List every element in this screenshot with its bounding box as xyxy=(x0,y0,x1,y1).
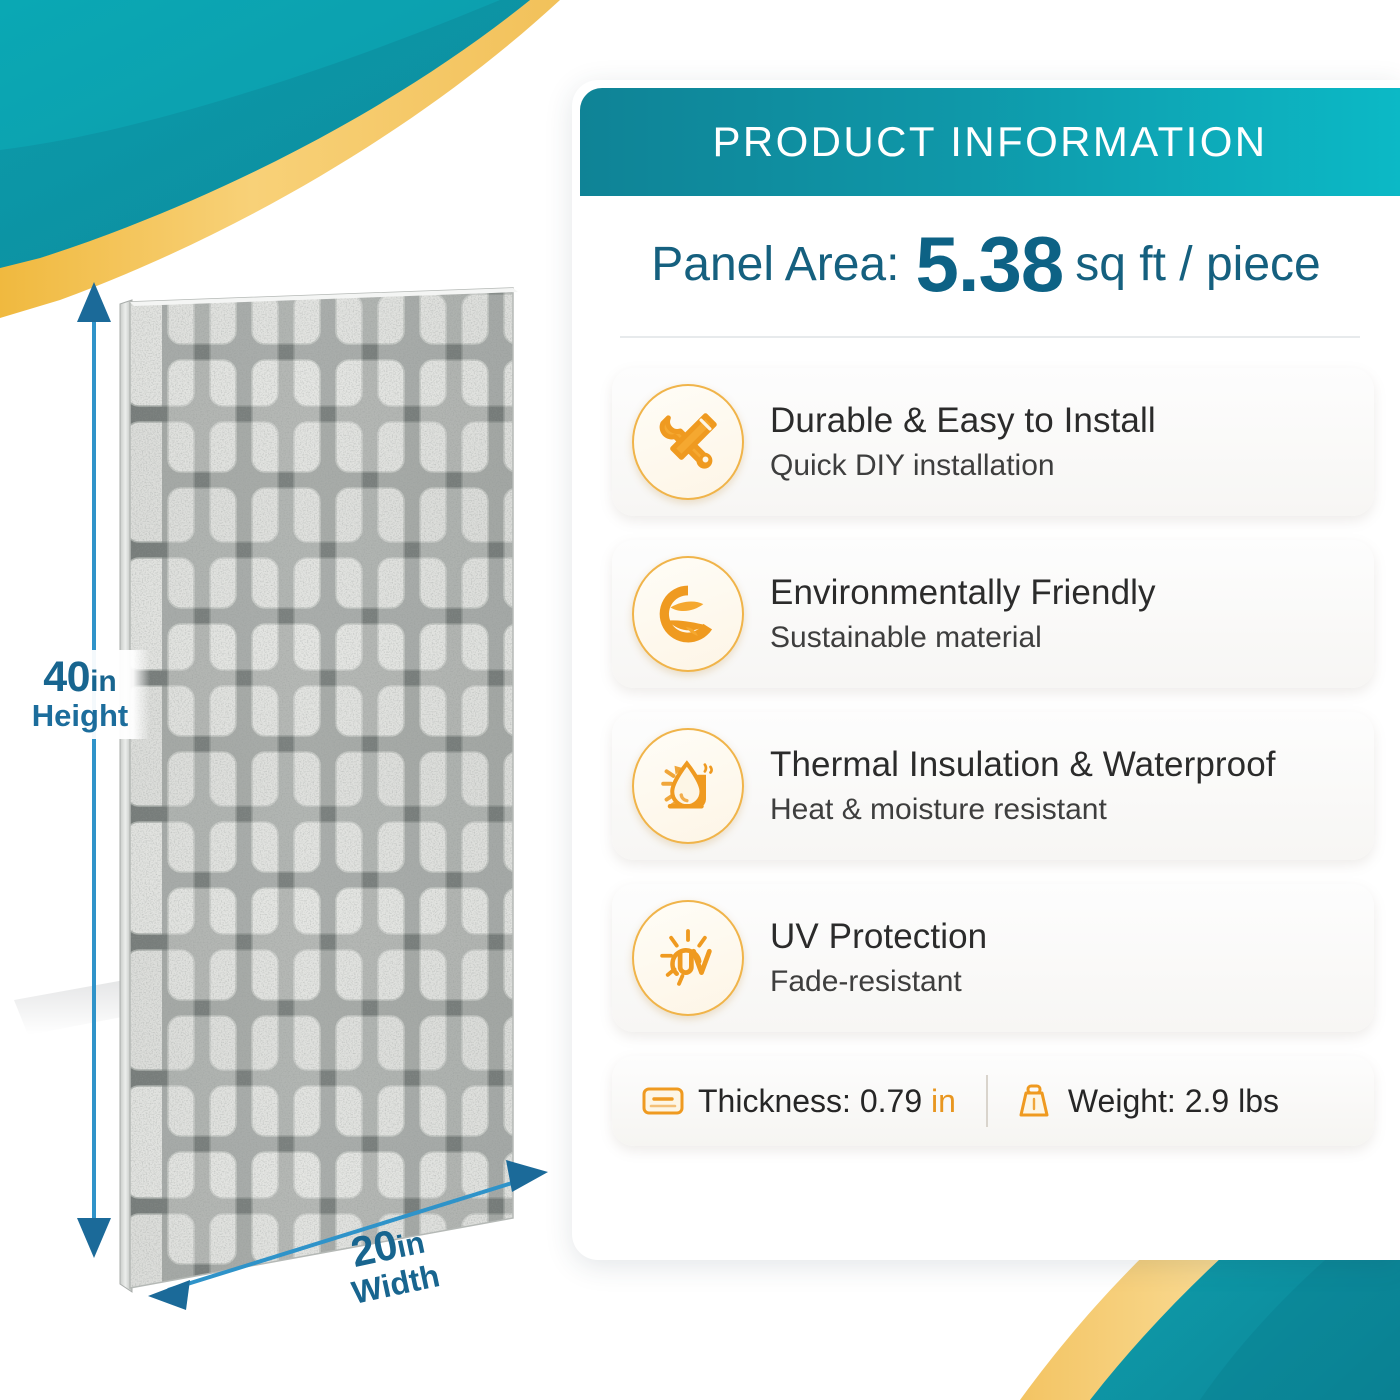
feature-subtitle: Fade-resistant xyxy=(770,964,1348,1000)
height-name: Height xyxy=(10,700,150,731)
panel-area-unit: sq ft / piece xyxy=(1075,237,1320,292)
height-dimension-arrow xyxy=(77,282,111,1258)
height-unit: in xyxy=(90,665,117,698)
feature-title: Thermal Insulation & Waterproof xyxy=(770,744,1348,785)
ruler-thickness-icon xyxy=(642,1085,684,1117)
thickness-label: Thickness: 0.79 xyxy=(698,1083,922,1119)
thickness-text: Thickness: 0.79 in xyxy=(698,1083,956,1120)
panel-area-label: Panel Area: xyxy=(651,237,899,292)
feature-title: Durable & Easy to Install xyxy=(770,400,1348,441)
spec-bar: Thickness: 0.79 in Weight: 2.9 lbs xyxy=(612,1056,1374,1146)
panel-area-value: 5.38 xyxy=(915,219,1063,310)
infographic-stage: 40in Height 20in Width PRODUCT INFORMATI… xyxy=(0,0,1400,1400)
feature-text: Durable & Easy to Install Quick DIY inst… xyxy=(770,400,1354,483)
section-divider xyxy=(620,336,1360,338)
page-title: PRODUCT INFORMATION xyxy=(712,118,1267,166)
eco-leaf-icon xyxy=(632,556,744,672)
feature-title: UV Protection xyxy=(770,916,1348,957)
feature-card-uv-protection[interactable]: UV Protection Fade-resistant xyxy=(612,884,1374,1032)
feature-subtitle: Quick DIY installation xyxy=(770,448,1348,484)
feature-text: UV Protection Fade-resistant xyxy=(770,916,1354,999)
feature-subtitle: Sustainable material xyxy=(770,620,1348,656)
feature-text: Thermal Insulation & Waterproof Heat & m… xyxy=(770,744,1354,827)
weight-icon xyxy=(1014,1081,1054,1121)
width-unit: in xyxy=(393,1225,427,1265)
spec-thickness: Thickness: 0.79 in xyxy=(642,1083,956,1120)
features-list: Durable & Easy to Install Quick DIY inst… xyxy=(612,368,1374,1146)
feature-title: Environmentally Friendly xyxy=(770,572,1348,613)
tools-icon xyxy=(632,384,744,500)
feature-subtitle: Heat & moisture resistant xyxy=(770,792,1348,828)
water-drop-heat-icon xyxy=(632,728,744,844)
feature-card-thermal-waterproof[interactable]: Thermal Insulation & Waterproof Heat & m… xyxy=(612,712,1374,860)
product-information-card: PRODUCT INFORMATION Panel Area: 5.38 sq … xyxy=(572,80,1400,1260)
height-dimension-label: 40in Height xyxy=(10,650,150,739)
panel-area-row: Panel Area: 5.38 sq ft / piece xyxy=(572,198,1400,330)
thickness-unit: in xyxy=(931,1083,956,1119)
weight-text: Weight: 2.9 lbs xyxy=(1068,1083,1279,1120)
feature-card-eco-friendly[interactable]: Environmentally Friendly Sustainable mat… xyxy=(612,540,1374,688)
height-value: 40 xyxy=(43,653,90,701)
product-image-area: 40in Height 20in Width xyxy=(0,0,566,1400)
feature-card-durable[interactable]: Durable & Easy to Install Quick DIY inst… xyxy=(612,368,1374,516)
spec-weight: Weight: 2.9 lbs xyxy=(1014,1081,1279,1121)
uv-sun-icon xyxy=(632,900,744,1016)
feature-text: Environmentally Friendly Sustainable mat… xyxy=(770,572,1354,655)
card-header-bar: PRODUCT INFORMATION xyxy=(580,88,1400,196)
spec-divider xyxy=(986,1075,988,1127)
